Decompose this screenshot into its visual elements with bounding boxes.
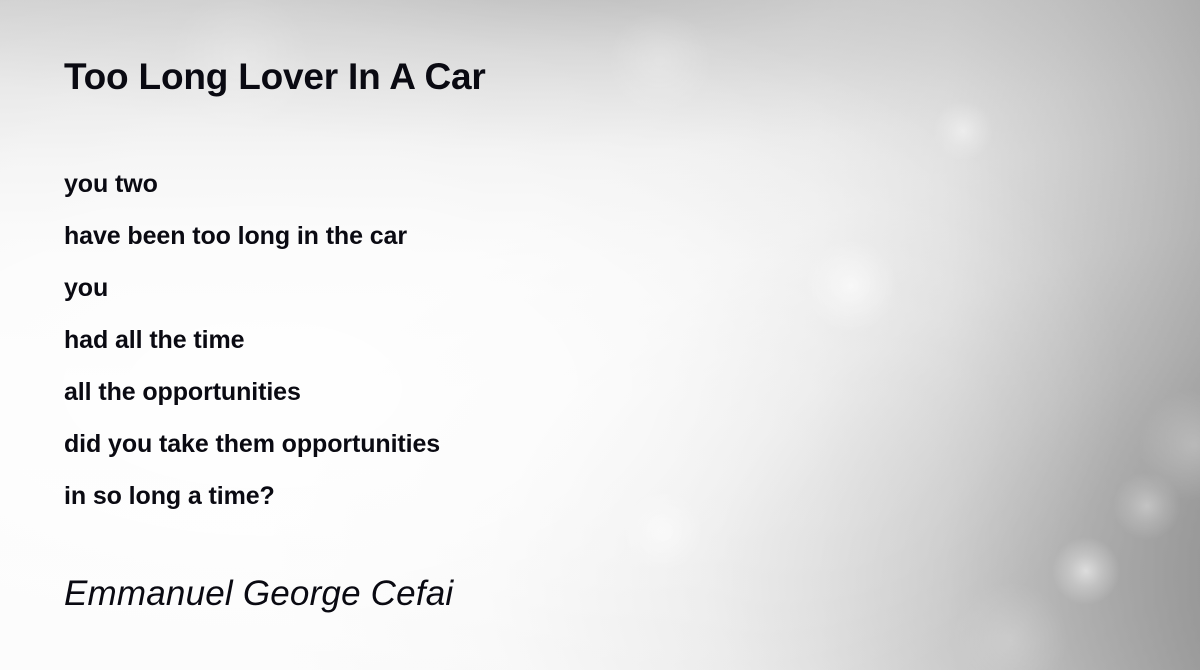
poem-line: all the opportunities [64, 366, 1064, 418]
poem-title: Too Long Lover In A Car [64, 55, 486, 99]
poem-body: you two have been too long in the car yo… [64, 158, 1064, 522]
poem-author: Emmanuel George Cefai [64, 572, 453, 616]
poem-line: did you take them opportunities [64, 418, 1064, 470]
poem-line: have been too long in the car [64, 210, 1064, 262]
poem-content: Too Long Lover In A Car you two have bee… [64, 0, 1124, 670]
poem-line: you [64, 262, 1064, 314]
poem-line: had all the time [64, 314, 1064, 366]
poem-card: Too Long Lover In A Car you two have bee… [0, 0, 1200, 670]
poem-line: in so long a time? [64, 470, 1064, 522]
poem-line: you two [64, 158, 1064, 210]
